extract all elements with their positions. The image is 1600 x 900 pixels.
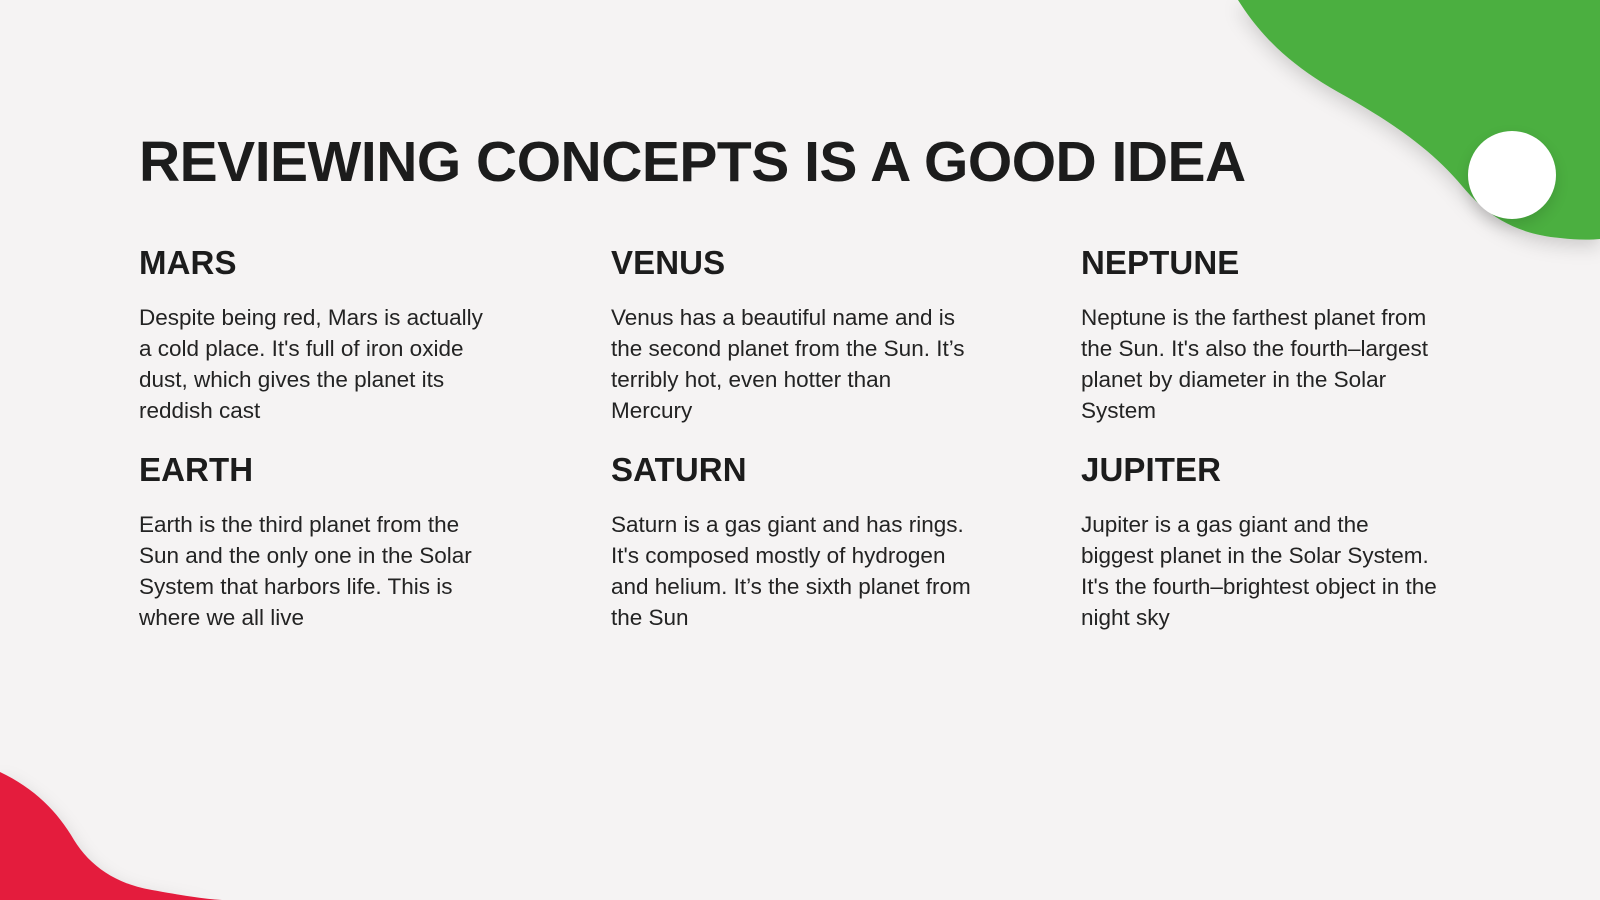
white-circle-icon bbox=[1468, 131, 1556, 219]
card-heading-earth: EARTH bbox=[139, 453, 611, 486]
planet-card-neptune: NEPTUNE Neptune is the farthest planet f… bbox=[1081, 246, 1499, 426]
planet-card-venus: VENUS Venus has a beautiful name and is … bbox=[611, 246, 1081, 426]
card-heading-neptune: NEPTUNE bbox=[1081, 246, 1499, 279]
card-body-saturn: Saturn is a gas giant and has rings. It'… bbox=[611, 509, 971, 633]
card-heading-jupiter: JUPITER bbox=[1081, 453, 1499, 486]
planet-card-earth: EARTH Earth is the third planet from the… bbox=[139, 447, 611, 633]
red-blob-icon bbox=[0, 772, 222, 900]
planet-card-jupiter: JUPITER Jupiter is a gas giant and the b… bbox=[1081, 447, 1499, 633]
page-title: REVIEWING CONCEPTS IS A GOOD IDEA bbox=[139, 133, 1246, 193]
card-body-neptune: Neptune is the farthest planet from the … bbox=[1081, 302, 1441, 426]
planet-card-grid: MARS Despite being red, Mars is actually… bbox=[139, 246, 1499, 633]
card-body-jupiter: Jupiter is a gas giant and the biggest p… bbox=[1081, 509, 1441, 633]
planet-card-saturn: SATURN Saturn is a gas giant and has rin… bbox=[611, 447, 1081, 633]
card-heading-saturn: SATURN bbox=[611, 453, 1081, 486]
slide-canvas: REVIEWING CONCEPTS IS A GOOD IDEA MARS D… bbox=[0, 0, 1600, 900]
card-body-venus: Venus has a beautiful name and is the se… bbox=[611, 302, 971, 426]
card-body-earth: Earth is the third planet from the Sun a… bbox=[139, 509, 499, 633]
card-heading-venus: VENUS bbox=[611, 246, 1081, 279]
green-blob-icon bbox=[1238, 0, 1600, 240]
planet-card-mars: MARS Despite being red, Mars is actually… bbox=[139, 246, 611, 426]
card-heading-mars: MARS bbox=[139, 246, 611, 279]
card-body-mars: Despite being red, Mars is actually a co… bbox=[139, 302, 499, 426]
